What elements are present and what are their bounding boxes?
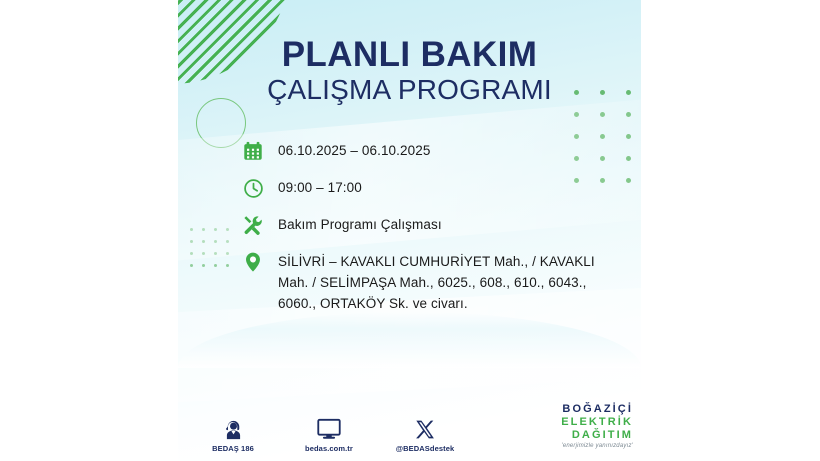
- brand-tagline: 'enerjimizle yanınızdayız': [561, 443, 633, 449]
- detail-time-text: 09:00 – 17:00: [278, 175, 362, 198]
- poster-footer: BEDAŞ 186 bedas.com.tr: [178, 403, 641, 455]
- detail-row-date: 06.10.2025 – 06.10.2025: [240, 138, 615, 164]
- contact-website-label: bedas.com.tr: [292, 444, 366, 453]
- bedas-logo: BOĞAZİÇİ ELEKTRİK DAĞITIM 'enerjimizle y…: [561, 403, 633, 449]
- call-center-agent-icon: [196, 414, 270, 440]
- contact-x-label: @BEDASdestek: [388, 444, 462, 453]
- contact-phone[interactable]: BEDAŞ 186: [196, 414, 270, 453]
- location-pin-icon: [240, 249, 266, 275]
- x-twitter-icon: [388, 414, 462, 440]
- brand-line-bogazici: BOĞAZİÇİ: [561, 403, 633, 416]
- contact-website[interactable]: bedas.com.tr: [292, 414, 366, 453]
- contact-phone-label: BEDAŞ 186: [196, 444, 270, 453]
- detail-work-type-text: Bakım Programı Çalışması: [278, 212, 442, 235]
- brand-line-elektrik: ELEKTRİK: [561, 416, 633, 429]
- tools-icon: [240, 212, 266, 238]
- calendar-icon: [240, 138, 266, 164]
- detail-row-address: SİLİVRİ – KAVAKLI CUMHURİYET Mah., / KAV…: [240, 249, 615, 315]
- contact-channels: BEDAŞ 186 bedas.com.tr: [196, 414, 462, 453]
- title-primary: PLANLI BAKIM: [178, 36, 641, 73]
- planned-maintenance-poster: PLANLI BAKIM ÇALIŞMA PROGRAMI: [178, 0, 641, 461]
- detail-date-text: 06.10.2025 – 06.10.2025: [278, 138, 430, 161]
- dot-grid-left-decoration: [190, 228, 238, 276]
- screenshot-canvas: PLANLI BAKIM ÇALIŞMA PROGRAMI: [0, 0, 820, 461]
- page-title: PLANLI BAKIM ÇALIŞMA PROGRAMI: [178, 36, 641, 106]
- maintenance-details-list: 06.10.2025 – 06.10.2025 09:00 – 17:00: [240, 138, 615, 326]
- detail-row-work-type: Bakım Programı Çalışması: [240, 212, 615, 238]
- contact-x-account[interactable]: @BEDASdestek: [388, 414, 462, 453]
- clock-icon: [240, 175, 266, 201]
- detail-address-text: SİLİVRİ – KAVAKLI CUMHURİYET Mah., / KAV…: [278, 249, 615, 315]
- brand-line-dagitim: DAĞITIM: [561, 429, 633, 442]
- monitor-icon: [292, 414, 366, 440]
- title-secondary: ÇALIŞMA PROGRAMI: [178, 75, 641, 106]
- detail-row-time: 09:00 – 17:00: [240, 175, 615, 201]
